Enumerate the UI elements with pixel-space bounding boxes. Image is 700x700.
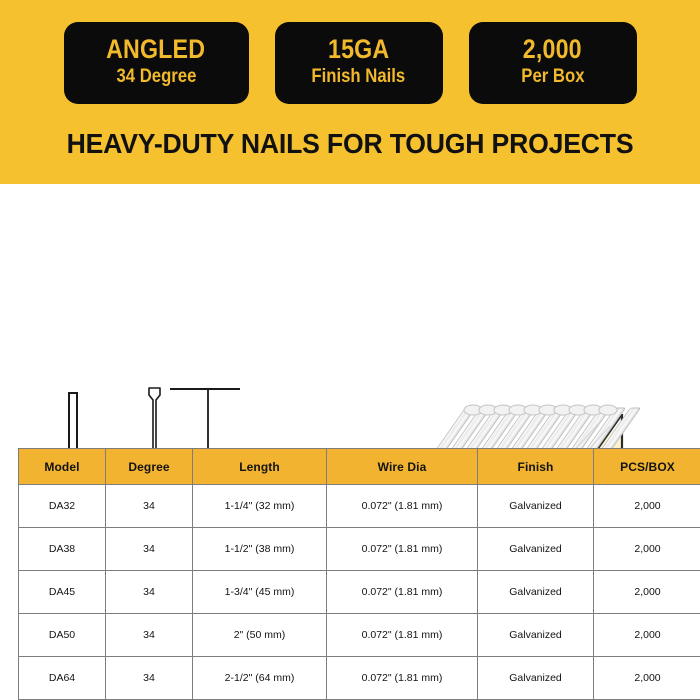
header-banner: ANGLED 34 Degree 15GA Finish Nails 2,000…	[0, 0, 700, 184]
spec-table: Model Degree Length Wire Dia Finish PCS/…	[18, 448, 700, 700]
cell-model: DA50	[19, 614, 106, 657]
angle-badge-title: ANGLED	[106, 36, 205, 64]
cell-model: DA64	[19, 657, 106, 700]
count-badge-subtitle: Per Box	[521, 66, 584, 88]
cell-length: 2-1/2" (64 mm)	[193, 657, 327, 700]
cell-wire-dia: 0.072" (1.81 mm)	[327, 485, 478, 528]
cell-pcs-box: 2,000	[594, 657, 700, 700]
cell-degree: 34	[106, 571, 193, 614]
cell-model: DA45	[19, 571, 106, 614]
angle-badge: ANGLED 34 Degree	[64, 22, 249, 104]
cell-pcs-box: 2,000	[594, 485, 700, 528]
header-wire-dia: Wire Dia	[327, 449, 478, 485]
cell-model: DA38	[19, 528, 106, 571]
count-badge-title: 2,000	[523, 36, 582, 64]
cell-finish: Galvanized	[478, 485, 594, 528]
cell-finish: Galvanized	[478, 614, 594, 657]
table-header-row: Model Degree Length Wire Dia Finish PCS/…	[19, 449, 700, 485]
cell-wire-dia: 0.072" (1.81 mm)	[327, 657, 478, 700]
cell-length: 2" (50 mm)	[193, 614, 327, 657]
cell-model: DA32	[19, 485, 106, 528]
cell-finish: Galvanized	[478, 528, 594, 571]
angle-badge-subtitle: 34 Degree	[116, 66, 196, 88]
gauge-badge-subtitle: Finish Nails	[312, 66, 406, 88]
cell-finish: Galvanized	[478, 571, 594, 614]
count-badge: 2,000 Per Box	[469, 22, 637, 104]
header-pcs-box: PCS/BOX	[594, 449, 700, 485]
cell-degree: 34	[106, 657, 193, 700]
table-row: DA64 34 2-1/2" (64 mm) 0.072" (1.81 mm) …	[19, 657, 700, 700]
table-row: DA38 34 1-1/2" (38 mm) 0.072" (1.81 mm) …	[19, 528, 700, 571]
cell-degree: 34	[106, 485, 193, 528]
cell-finish: Galvanized	[478, 657, 594, 700]
tagline: HEAVY-DUTY NAILS FOR TOUGH PROJECTS	[18, 128, 683, 160]
header-length: Length	[193, 449, 327, 485]
table-row: DA32 34 1-1/4" (32 mm) 0.072" (1.81 mm) …	[19, 485, 700, 528]
table-row: DA50 34 2" (50 mm) 0.072" (1.81 mm) Galv…	[19, 614, 700, 657]
cell-pcs-box: 2,000	[594, 528, 700, 571]
cell-wire-dia: 0.072" (1.81 mm)	[327, 528, 478, 571]
gauge-badge: 15GA Finish Nails	[275, 22, 443, 104]
cell-pcs-box: 2,000	[594, 571, 700, 614]
cell-wire-dia: 0.072" (1.81 mm)	[327, 614, 478, 657]
badge-row: ANGLED 34 Degree 15GA Finish Nails 2,000…	[0, 22, 700, 104]
cell-length: 1-3/4" (45 mm)	[193, 571, 327, 614]
cell-degree: 34	[106, 528, 193, 571]
diagram-area: 0.072" (1.81 mm) 1-1/4"-2" (32-64 mm) Av…	[0, 184, 700, 442]
cell-degree: 34	[106, 614, 193, 657]
header-model: Model	[19, 449, 106, 485]
header-degree: Degree	[106, 449, 193, 485]
gauge-badge-title: 15GA	[328, 36, 389, 64]
cell-length: 1-1/2" (38 mm)	[193, 528, 327, 571]
cell-pcs-box: 2,000	[594, 614, 700, 657]
table-row: DA45 34 1-3/4" (45 mm) 0.072" (1.81 mm) …	[19, 571, 700, 614]
header-finish: Finish	[478, 449, 594, 485]
cell-length: 1-1/4" (32 mm)	[193, 485, 327, 528]
cell-wire-dia: 0.072" (1.81 mm)	[327, 571, 478, 614]
